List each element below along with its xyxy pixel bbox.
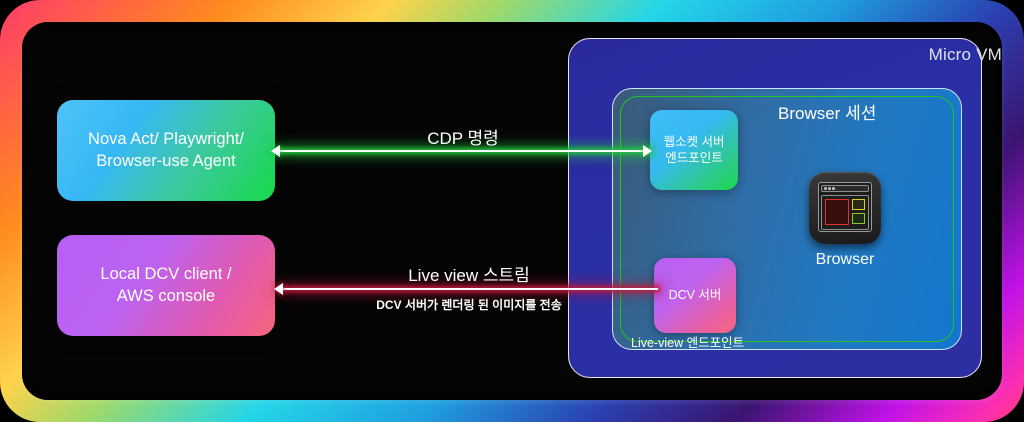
node-websocket-line1: 웹소켓 서버 (664, 135, 725, 149)
browser-session-label: Browser 세션 (778, 99, 876, 124)
micro-vm-label: Micro VM (929, 45, 1002, 65)
node-local-dcv-client[interactable]: Local DCV client / AWS console (57, 235, 275, 336)
connection-cdp-line (277, 150, 649, 152)
browser-icon-side-panel-bottom (852, 213, 865, 224)
diagram-stage: Nova Act/ Playwright/ Browser-use Agent … (0, 0, 1024, 422)
node-dcv-client-text: Local DCV client / AWS console (100, 264, 231, 306)
browser-icon-side-panel-top (852, 199, 865, 210)
node-dcv-client-line2: AWS console (117, 287, 215, 305)
browser-icon-dot-3 (832, 187, 835, 190)
browser-icon-side-panels (852, 199, 865, 226)
node-agent-text: Nova Act/ Playwright/ Browser-use Agent (88, 129, 244, 171)
node-nova-act-agent[interactable]: Nova Act/ Playwright/ Browser-use Agent (57, 100, 275, 201)
browser-icon-window-frame (818, 182, 872, 232)
browser-icon-content-area (821, 195, 869, 230)
node-websocket-text: 웹소켓 서버 엔드포인트 (664, 134, 725, 167)
node-websocket-line2: 엔드포인트 (665, 151, 723, 165)
connection-liveview-line (280, 288, 658, 290)
browser-icon-group: Browser (795, 172, 895, 269)
connection-cdp-label: CDP 명령 (277, 124, 649, 149)
node-dcv-client-line1: Local DCV client / (100, 265, 231, 283)
connection-liveview-label: Live view 스트림 (280, 261, 658, 286)
node-agent-line2: Browser-use Agent (96, 152, 235, 170)
browser-icon-label: Browser (795, 251, 895, 269)
node-dcv-server[interactable]: DCV 서버 (654, 258, 736, 333)
browser-icon-titlebar (821, 185, 869, 192)
node-websocket-server-endpoint[interactable]: 웹소켓 서버 엔드포인트 (650, 110, 738, 190)
browser-icon-main-panel (825, 199, 849, 225)
connection-liveview-sublabel: DCV 서버가 렌더링 된 이미지를 전송 (280, 296, 658, 313)
node-dcv-server-label: DCV 서버 (669, 287, 722, 303)
browser-window-icon (809, 172, 881, 244)
browser-icon-dot-2 (828, 187, 831, 190)
node-agent-line1: Nova Act/ Playwright/ (88, 130, 244, 148)
browser-icon-dot-1 (824, 187, 827, 190)
liveview-endpoint-label: Live-view 엔드포인트 (631, 332, 744, 351)
